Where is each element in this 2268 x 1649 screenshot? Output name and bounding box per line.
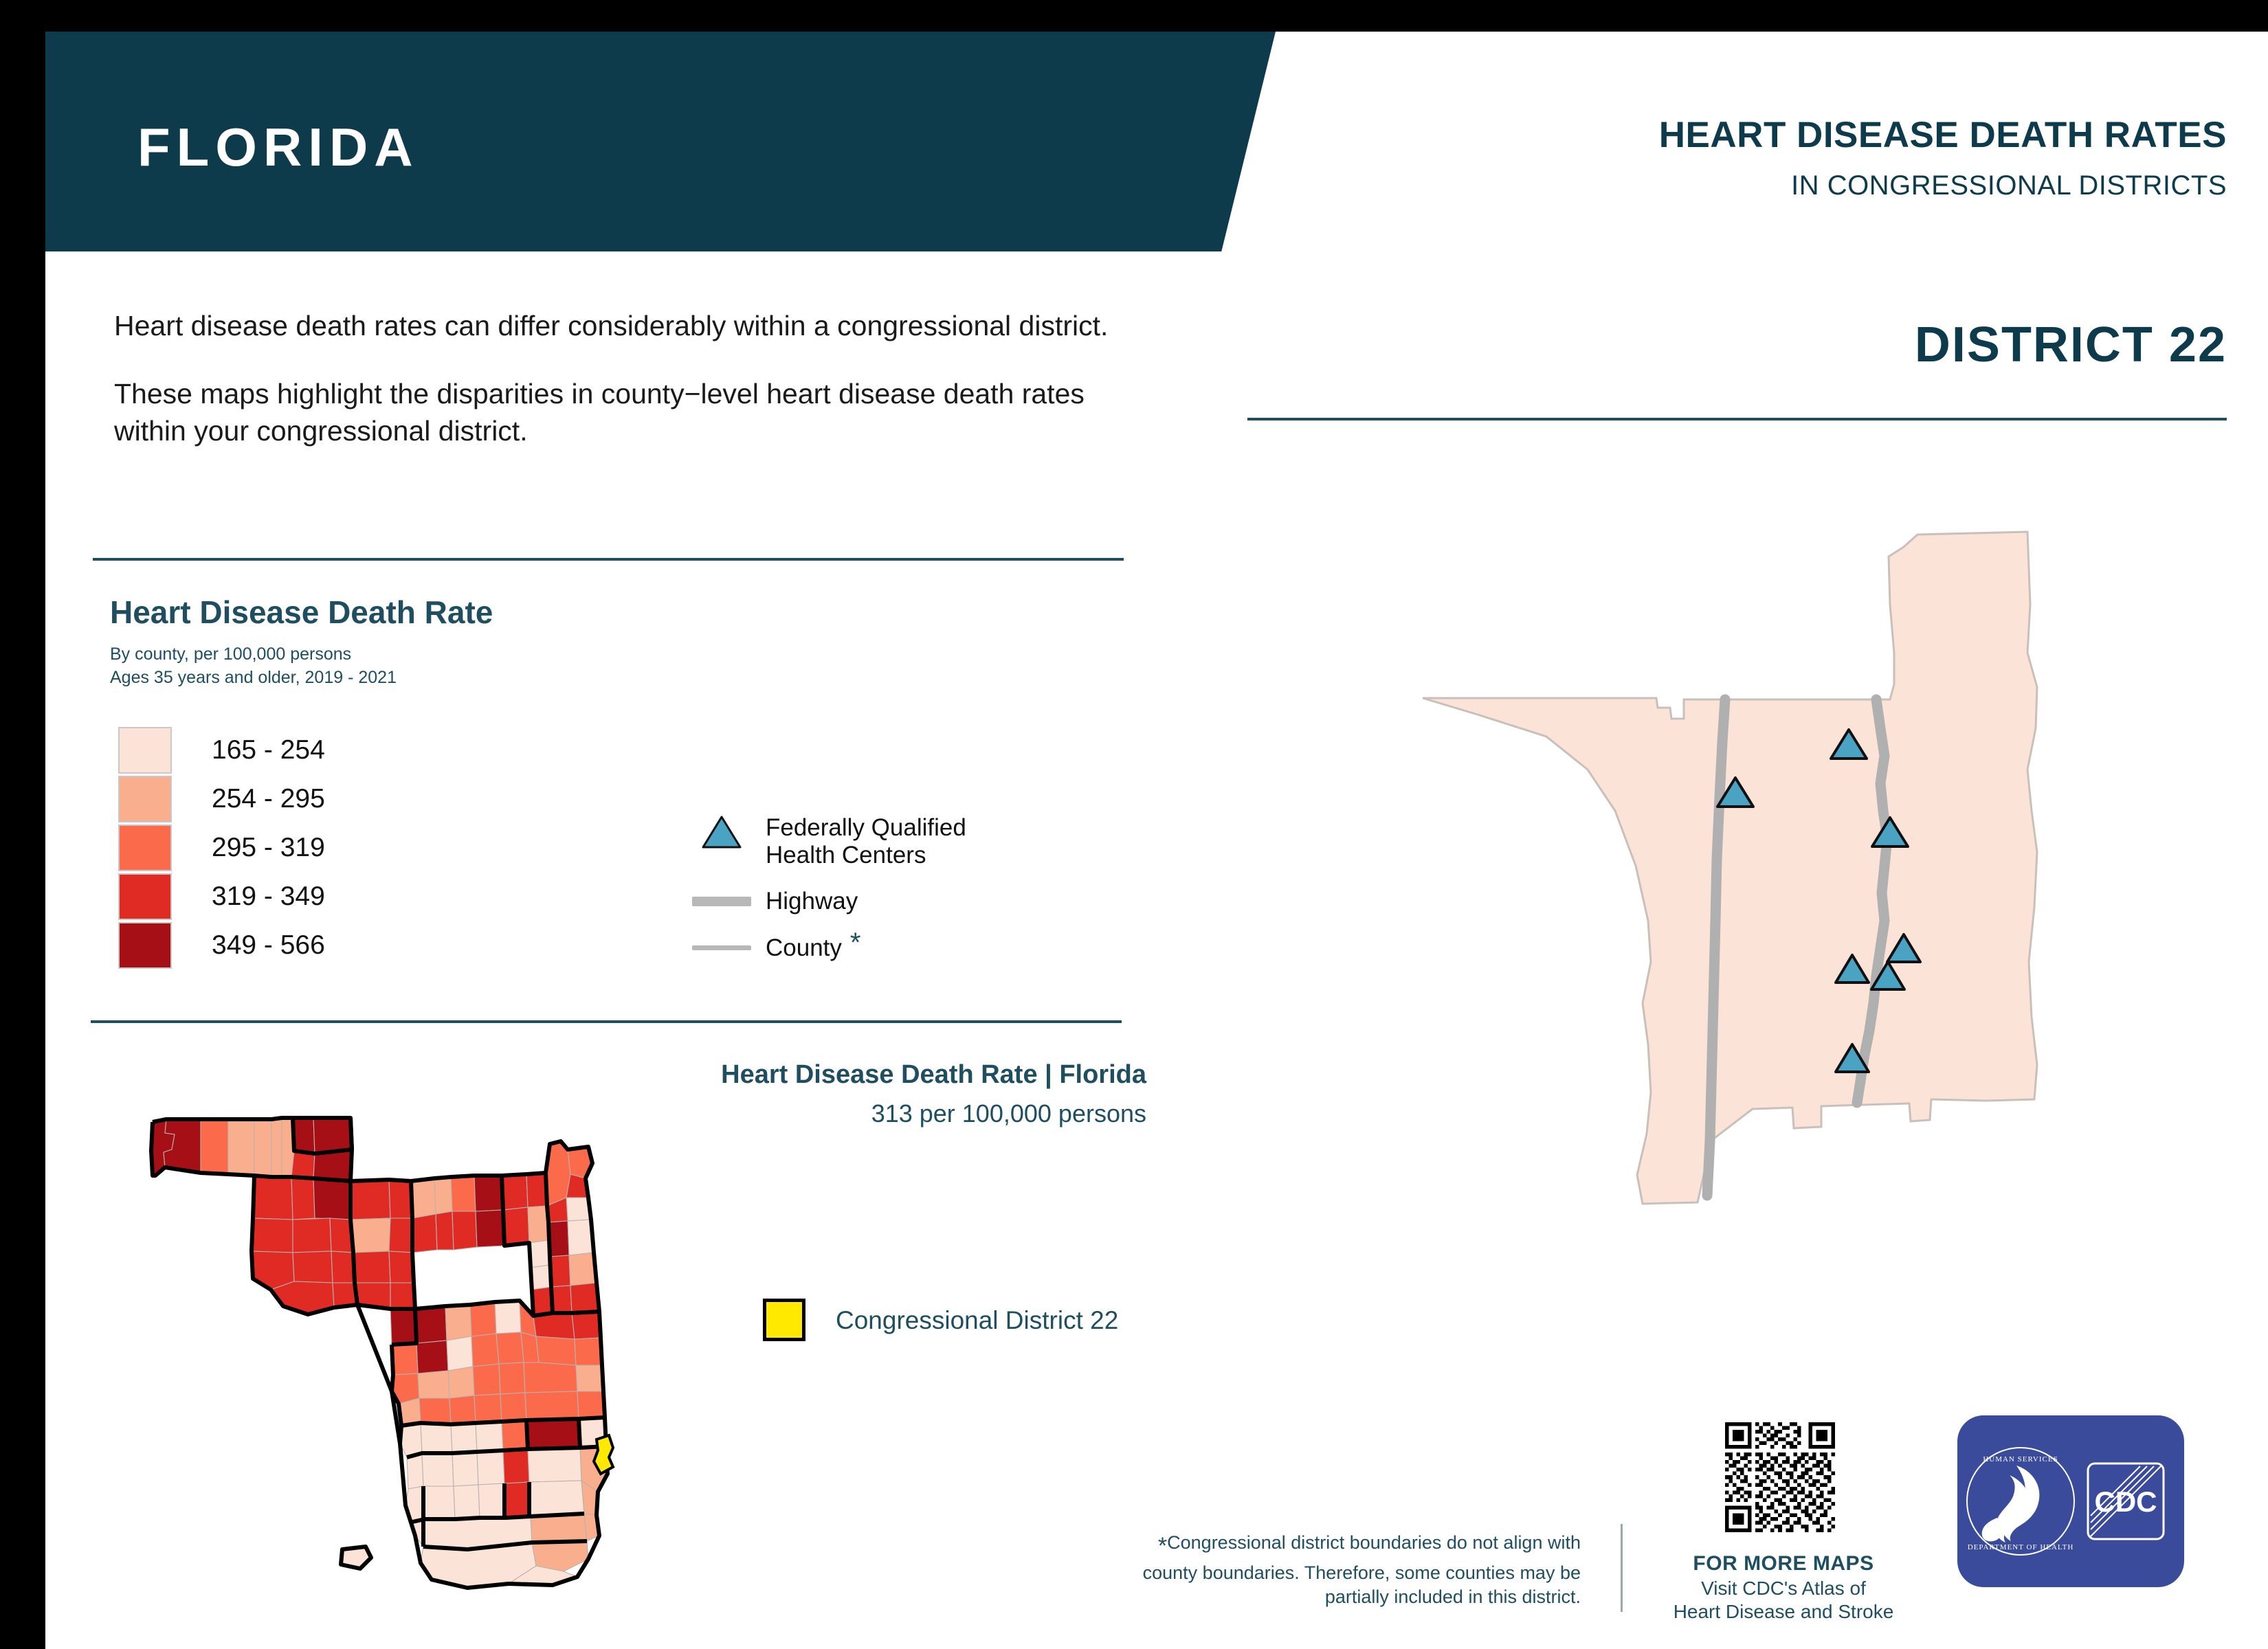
district-swatch-label: Congressional District 22: [836, 1308, 1118, 1333]
legend-row: 254 - 295: [118, 774, 325, 823]
legend-label: 319 - 349: [212, 883, 325, 910]
legend-swatch: [118, 873, 172, 920]
fqhc-label-line2: Health Centers: [766, 842, 966, 869]
state-map-rate: 313 per 100,000 persons: [871, 1101, 1146, 1126]
footer-vertical-divider: [1621, 1524, 1623, 1612]
legend-subtitle-line1: By county, per 100,000 persons: [110, 643, 397, 666]
state-name: FLORIDA: [137, 120, 419, 174]
fqhc-label-line1: Federally Qualified: [766, 814, 966, 842]
intro-paragraph-1: Heart disease death rates can differ con…: [114, 308, 1145, 344]
divider-top: [93, 558, 1124, 561]
for-more-maps-line1: Visit CDC's Atlas of: [1670, 1577, 1897, 1600]
legend-row: 349 - 566: [118, 921, 325, 969]
divider-district: [1247, 418, 2227, 420]
county-label: County *: [766, 934, 860, 962]
legend-swatch: [118, 922, 172, 969]
legend-label: 165 - 254: [212, 737, 325, 763]
legend-swatch: [118, 776, 172, 822]
infographic-page: FLORIDA HEART DISEASE DEATH RATES IN CON…: [0, 0, 2268, 1649]
florida-state-map: [124, 1110, 619, 1597]
county-asterisk: *: [850, 934, 861, 951]
legend-label: 349 - 566: [212, 932, 325, 958]
symbol-legend: Federally Qualified Health Centers Highw…: [687, 814, 966, 980]
legend-title: Heart Disease Death Rate: [110, 596, 493, 628]
page-title: HEART DISEASE DEATH RATES: [1659, 117, 2227, 153]
legend-subtitle: By county, per 100,000 persons Ages 35 y…: [110, 643, 397, 689]
fqhc-label: Federally Qualified Health Centers: [766, 814, 966, 868]
svg-text:HUMAN SERVICES: HUMAN SERVICES: [1983, 1455, 2058, 1463]
district-heading: DISTRICT 22: [1915, 320, 2227, 370]
footnote-asterisk: *: [1158, 1533, 1167, 1559]
fqhc-triangle-icon: [687, 814, 756, 850]
legend-row: 319 - 349: [118, 872, 325, 921]
highway-line-icon: [687, 897, 756, 906]
for-more-maps-line2: Heart Disease and Stroke: [1670, 1600, 1897, 1624]
divider-bottom: [91, 1020, 1122, 1023]
page-subtitle: IN CONGRESSIONAL DISTRICTS: [1791, 172, 2227, 199]
state-map-title: Heart Disease Death Rate | Florida: [721, 1062, 1146, 1088]
svg-text:CDC: CDC: [2095, 1485, 2157, 1518]
left-border-band: [0, 0, 45, 1649]
footnote-text: Congressional district boundaries do not…: [1143, 1532, 1581, 1607]
for-more-maps: FOR MORE MAPS Visit CDC's Atlas of Heart…: [1670, 1551, 1897, 1624]
legend-label: 254 - 295: [212, 785, 325, 812]
legend-highway: Highway: [687, 888, 966, 915]
legend-congressional-district: Congressional District 22: [763, 1299, 1118, 1341]
legend-row: 295 - 319: [118, 823, 325, 872]
legend-swatch: [118, 727, 172, 774]
county-line-icon: [687, 945, 756, 950]
legend-row: 165 - 254: [118, 726, 325, 774]
footnote: *Congressional district boundaries do no…: [1141, 1531, 1581, 1609]
legend-swatch: [118, 824, 172, 871]
legend-swatches: 165 - 254 254 - 295 295 - 319 319 - 349 …: [118, 726, 325, 969]
legend-subtitle-line2: Ages 35 years and older, 2019 - 2021: [110, 666, 397, 690]
district-polygon: [1423, 532, 2037, 1204]
intro-text: Heart disease death rates can differ con…: [114, 308, 1145, 449]
for-more-maps-heading: FOR MORE MAPS: [1670, 1551, 1897, 1577]
intro-paragraph-2: These maps highlight the disparities in …: [114, 376, 1145, 449]
cdc-logo: HUMAN SERVICES DEPARTMENT OF HEALTH CDC: [1957, 1415, 2184, 1587]
legend-label: 295 - 319: [212, 834, 325, 861]
county-label-text: County: [766, 934, 842, 962]
highlighted-district-22: [594, 1435, 613, 1474]
district-detail-map: [1340, 481, 2069, 1237]
district-swatch: [763, 1299, 805, 1341]
highway-label: Highway: [766, 888, 858, 915]
qr-code[interactable]: [1725, 1422, 1835, 1532]
svg-text:DEPARTMENT OF HEALTH: DEPARTMENT OF HEALTH: [1968, 1543, 2074, 1551]
legend-county: County *: [687, 934, 966, 962]
legend-fqhc: Federally Qualified Health Centers: [687, 814, 966, 868]
top-border-band: [0, 0, 2268, 32]
